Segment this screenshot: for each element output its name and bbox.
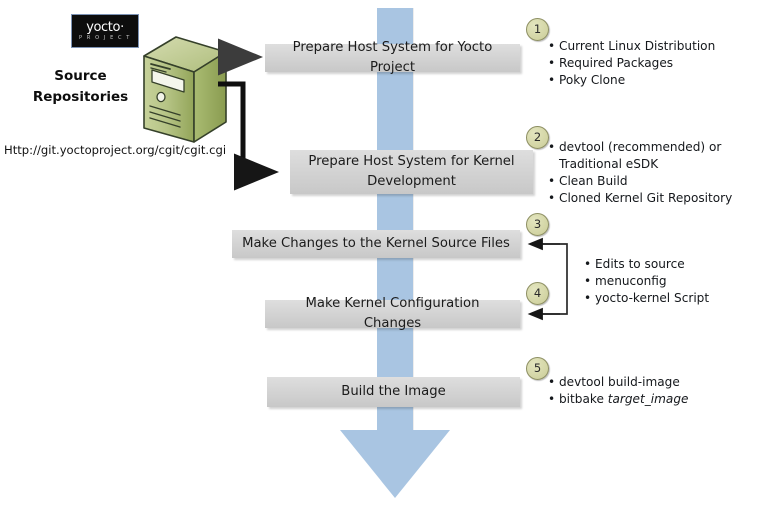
list-item: •devtool (recommended) or [548,139,732,156]
step3-box-label: Make Changes to the Kernel Source Files [242,234,510,254]
step-badge-1: 1 [526,18,549,41]
list-item-label: devtool build-image [559,375,680,389]
bullet-icon: • [548,391,559,408]
steps-3-4-shared-notes-list: •Edits to source •menuconfig •yocto-kern… [584,256,709,307]
list-item: •Poky Clone [548,72,715,89]
step-box-prepare-host-kernel[interactable]: Prepare Host System for Kernel Developme… [290,150,533,194]
server-tower-icon [134,34,230,146]
step5-box-label: Build the Image [341,382,445,402]
bullet-icon: • [548,173,559,190]
workflow-spine-arrow-head [340,430,450,498]
bullet-icon: • [548,374,559,391]
list-item: •Cloned Kernel Git Repository [548,190,732,207]
list-item-continuation: Traditional eSDK [548,156,732,173]
list-item: •yocto-kernel Script [584,290,709,307]
list-item-label: bitbake [559,392,608,406]
list-item-label: Traditional eSDK [559,157,658,171]
step-badge-5: 5 [526,357,549,380]
list-item: •Required Packages [548,55,715,72]
step-badge-4: 4 [526,282,549,305]
step-box-make-kernel-source-changes[interactable]: Make Changes to the Kernel Source Files [232,230,520,258]
bullet-icon: • [584,290,595,307]
bullet-icon: • [548,38,559,55]
bullet-icon: • [548,55,559,72]
step-box-make-kernel-config-changes[interactable]: Make Kernel Configuration Changes [265,300,520,328]
list-item: •menuconfig [584,273,709,290]
list-item: •Clean Build [548,173,732,190]
step2-box-label: Prepare Host System for Kernel Developme… [308,152,514,192]
step-badge-3: 3 [526,213,549,236]
bullet-icon: • [584,273,595,290]
list-item-label: Current Linux Distribution [559,39,715,53]
source-label-line1: Source [18,66,143,87]
bullet-icon: • [584,256,595,273]
step-badge-2: 2 [526,126,549,149]
bullet-icon: • [548,139,559,156]
step1-box-label: Prepare Host System for Yocto Project [275,38,510,78]
list-item: •Edits to source [584,256,709,273]
diagram-canvas: yocto· P R O J E C T Source Repositories… [0,0,769,517]
list-item: •devtool build-image [548,374,688,391]
list-item: •bitbake target_image [548,391,688,408]
step2-notes-list: •devtool (recommended) or Traditional eS… [548,139,732,207]
yocto-project-logo: yocto· P R O J E C T [71,14,139,48]
step1-notes-list: •Current Linux Distribution •Required Pa… [548,38,715,89]
yocto-logo-wordmark: yocto· [72,20,138,35]
list-item-label: yocto-kernel Script [595,291,709,305]
step4-box-label: Make Kernel Configuration Changes [275,294,510,334]
list-item: •Current Linux Distribution [548,38,715,55]
list-item-label: Edits to source [595,257,685,271]
step5-notes-list: •devtool build-image •bitbake target_ima… [548,374,688,408]
step-box-prepare-host-yocto[interactable]: Prepare Host System for Yocto Project [265,44,520,72]
source-repositories-label: Source Repositories [18,66,143,108]
yocto-logo-subtext: P R O J E C T [72,35,138,41]
step2-box-label-line1: Prepare Host System for Kernel [308,154,514,169]
list-item-label-emphasis: target_image [608,392,689,406]
bullet-icon: • [548,72,559,89]
source-label-line2: Repositories [18,87,143,108]
list-item-label: Clean Build [559,174,628,188]
list-item-label: devtool (recommended) or [559,140,721,154]
bullet-icon: • [548,190,559,207]
list-item-label: Cloned Kernel Git Repository [559,191,732,205]
step-box-build-the-image[interactable]: Build the Image [267,377,520,407]
list-item-label: Poky Clone [559,73,625,87]
list-item-label: Required Packages [559,56,673,70]
step2-box-label-line2: Development [367,174,456,189]
list-item-label: menuconfig [595,274,667,288]
